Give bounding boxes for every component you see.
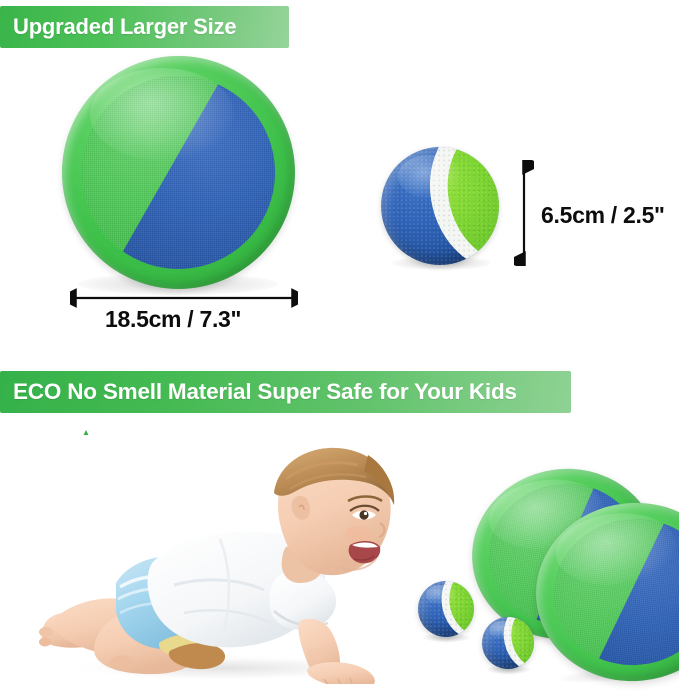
- dimension-arrow-vertical: [514, 160, 534, 266]
- dimension-arrow-horizontal: [70, 288, 298, 308]
- paddle-rim: [62, 56, 295, 289]
- ball-small-left: [418, 581, 474, 637]
- dimension-label-ball-height: 6.5cm / 2.5": [541, 202, 665, 229]
- dimension-label-paddle-width: 18.5cm / 7.3": [105, 306, 241, 333]
- ball-front-view: [381, 147, 499, 265]
- bottom-section: ECO: [0, 413, 679, 684]
- paddle-front-view: [62, 56, 295, 289]
- ball-small-right: [482, 617, 534, 669]
- ball-small-left-body: [418, 581, 474, 637]
- ball-body-blue: [381, 147, 499, 265]
- banner-upgraded-larger-size: Upgraded Larger Size: [0, 6, 289, 48]
- crawling-baby-photo: [24, 435, 414, 684]
- paddle-catch-surface: [82, 76, 275, 269]
- banner-upgraded-label: Upgraded Larger Size: [13, 14, 236, 40]
- product-group-paddles-and-balls: [408, 465, 679, 684]
- banner-eco-no-smell-material: ECO No Smell Material Super Safe for You…: [0, 371, 571, 413]
- top-section: Upgraded Larger Size: [0, 0, 679, 360]
- ball-small-right-body: [482, 617, 534, 669]
- paddle-angled-front-surface: [546, 511, 679, 673]
- banner-eco-label: ECO No Smell Material Super Safe for You…: [13, 379, 517, 405]
